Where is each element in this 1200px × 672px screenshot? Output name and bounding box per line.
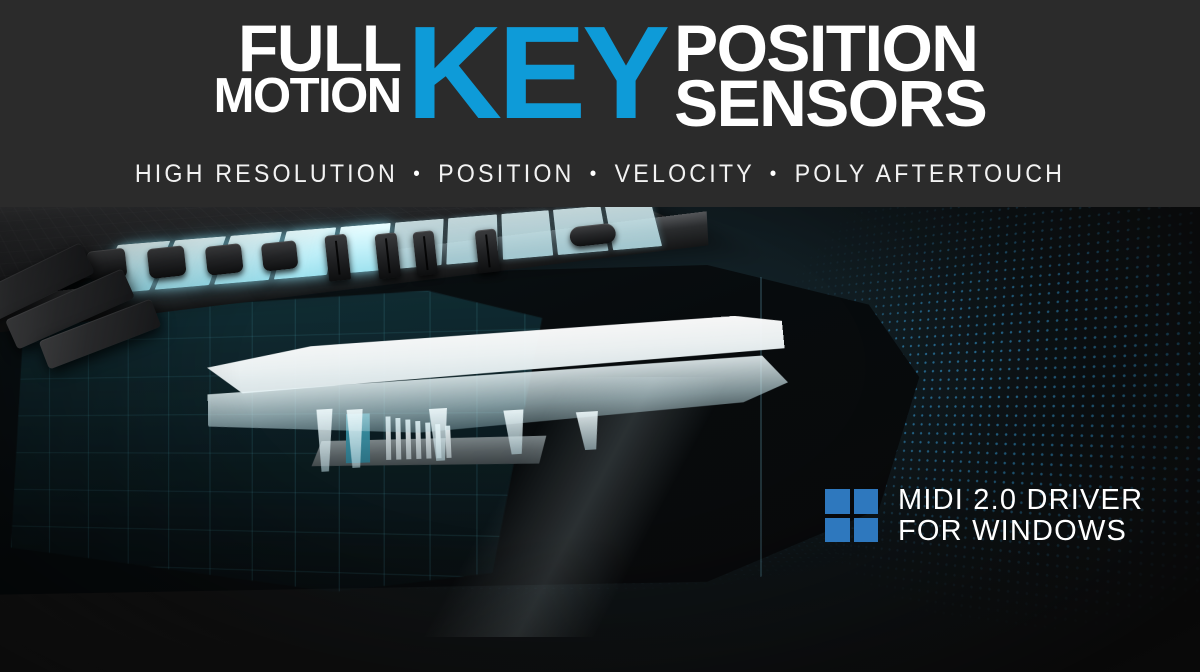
key-leg [503,409,526,454]
windows-logo-pane [825,489,850,514]
headline-left-column: FULL MOTION [214,18,407,118]
subline-separator-icon: • [408,163,429,185]
fader [324,234,351,282]
product-banner: FULL MOTION KEY POSITION SENSORS HIGH RE… [0,0,1200,672]
headline: FULL MOTION KEY POSITION SENSORS [0,18,1200,140]
key-leg [576,411,601,450]
subline-separator-icon: • [764,163,785,185]
windows-logo-pane [825,518,850,543]
midi-driver-badge: MIDI 2.0 DRIVER FOR WINDOWS [825,485,1143,546]
knob [569,223,617,248]
headline-word-key: KEY [407,18,666,126]
headline-right-column: POSITION SENSORS [666,18,986,132]
subline-item-3: POLY AFTERTOUCH [795,160,1066,188]
midi-badge-text: MIDI 2.0 DRIVER FOR WINDOWS [898,485,1143,546]
knob [147,245,187,279]
fader [374,232,401,279]
fader [475,228,501,273]
knob [261,240,299,272]
windows-logo-icon [825,489,878,542]
subline-item-2: VELOCITY [615,160,755,188]
midi-badge-line-2: FOR WINDOWS [898,515,1127,547]
key-leg [429,408,450,461]
windows-logo-pane [854,489,879,514]
fader [412,230,438,276]
header-section: FULL MOTION KEY POSITION SENSORS HIGH RE… [0,0,1200,207]
headline-word-full: FULL [238,21,401,76]
feature-subline: HIGH RESOLUTION • POSITION • VELOCITY • … [42,160,1158,189]
headline-word-sensors: SENSORS [674,76,986,131]
windows-logo-pane [854,518,879,543]
knob [205,243,244,276]
headline-center-column: KEY [407,18,666,126]
key-leg [347,409,365,468]
subline-separator-icon: • [584,163,605,185]
headline-word-motion: MOTION [214,76,401,117]
subline-item-1: POSITION [438,160,574,188]
midi-badge-line-1: MIDI 2.0 DRIVER [898,484,1143,516]
key-leg [316,409,334,472]
product-artwork: MIDI 2.0 DRIVER FOR WINDOWS NATURAL GRAN… [0,207,1200,672]
subline-item-0: HIGH RESOLUTION [135,160,398,188]
